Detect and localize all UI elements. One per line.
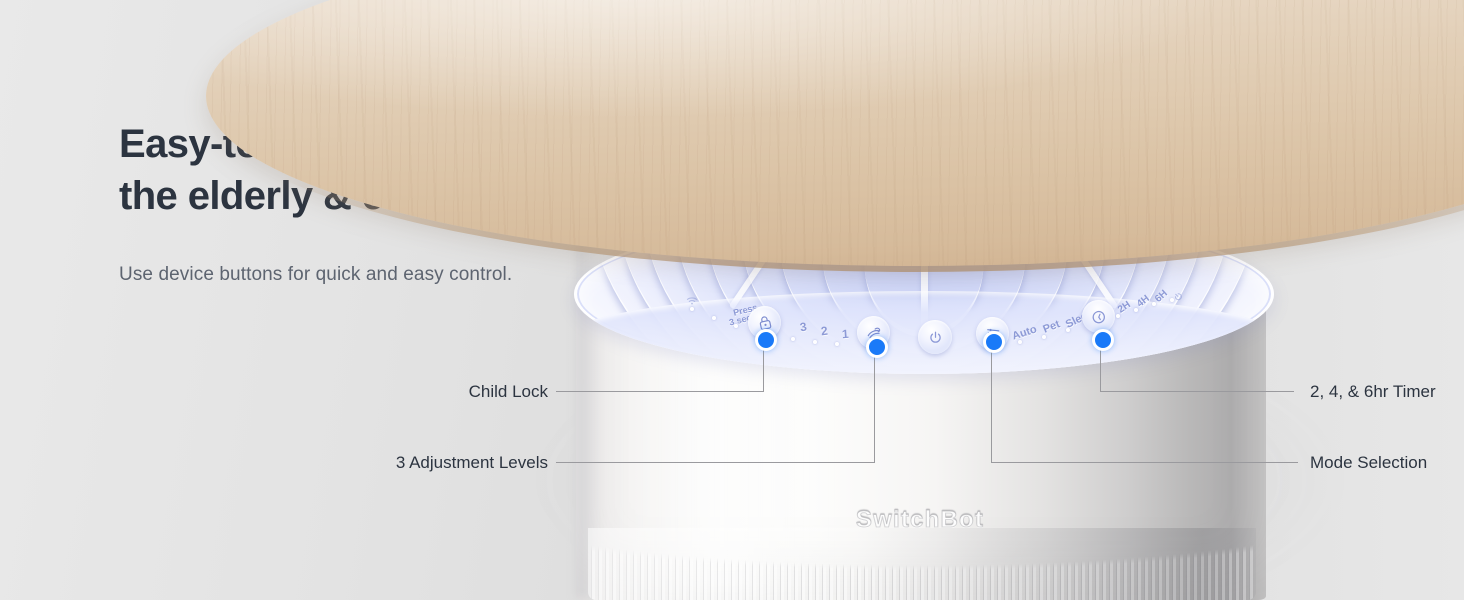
callout-child-lock: Child Lock (300, 382, 548, 402)
promo-banner: Easy-to-use for both the elderly & child… (0, 0, 1464, 600)
fan-level-2: 2 (820, 324, 828, 339)
leader-mode-vertical (991, 347, 992, 462)
mode-label-auto: Auto (1011, 323, 1039, 342)
leader-child-lock-horizontal (556, 391, 764, 392)
fan-level-3: 3 (799, 320, 808, 335)
callout-adjustment-levels: 3 Adjustment Levels (300, 453, 548, 473)
marker-mode (983, 331, 1005, 353)
marker-child-lock (755, 329, 777, 351)
indicator-dot-lock-a (712, 316, 716, 320)
indicator-dot-4h (1134, 308, 1138, 312)
leader-adjustment-vertical (874, 352, 875, 462)
indicator-dot-level-1 (835, 342, 839, 346)
leader-timer-horizontal (1100, 391, 1294, 392)
fan-level-1: 1 (842, 327, 850, 341)
marker-timer (1092, 329, 1114, 351)
indicator-dot-2h (1116, 314, 1120, 318)
power-button[interactable] (918, 320, 952, 354)
indicator-dot-level-2 (813, 340, 817, 344)
leader-mode-horizontal (991, 462, 1298, 463)
callout-timer: 2, 4, & 6hr Timer (1310, 382, 1436, 402)
indicator-dot-pet (1042, 335, 1046, 339)
leader-timer-vertical (1100, 345, 1101, 391)
wooden-table-top (206, 0, 1464, 266)
indicator-dot-wifi (690, 307, 694, 311)
callout-mode-selection: Mode Selection (1310, 453, 1427, 473)
indicator-dot-auto (1018, 340, 1022, 344)
leader-adjustment-horizontal (556, 462, 875, 463)
indicator-dot-level-3 (791, 337, 795, 341)
leader-child-lock-vertical (763, 345, 764, 391)
mode-label-pet: Pet (1041, 318, 1061, 336)
marker-fan-speed (866, 336, 888, 358)
indicator-dot-sleep (1066, 328, 1070, 332)
wood-sheen (206, 0, 1464, 266)
